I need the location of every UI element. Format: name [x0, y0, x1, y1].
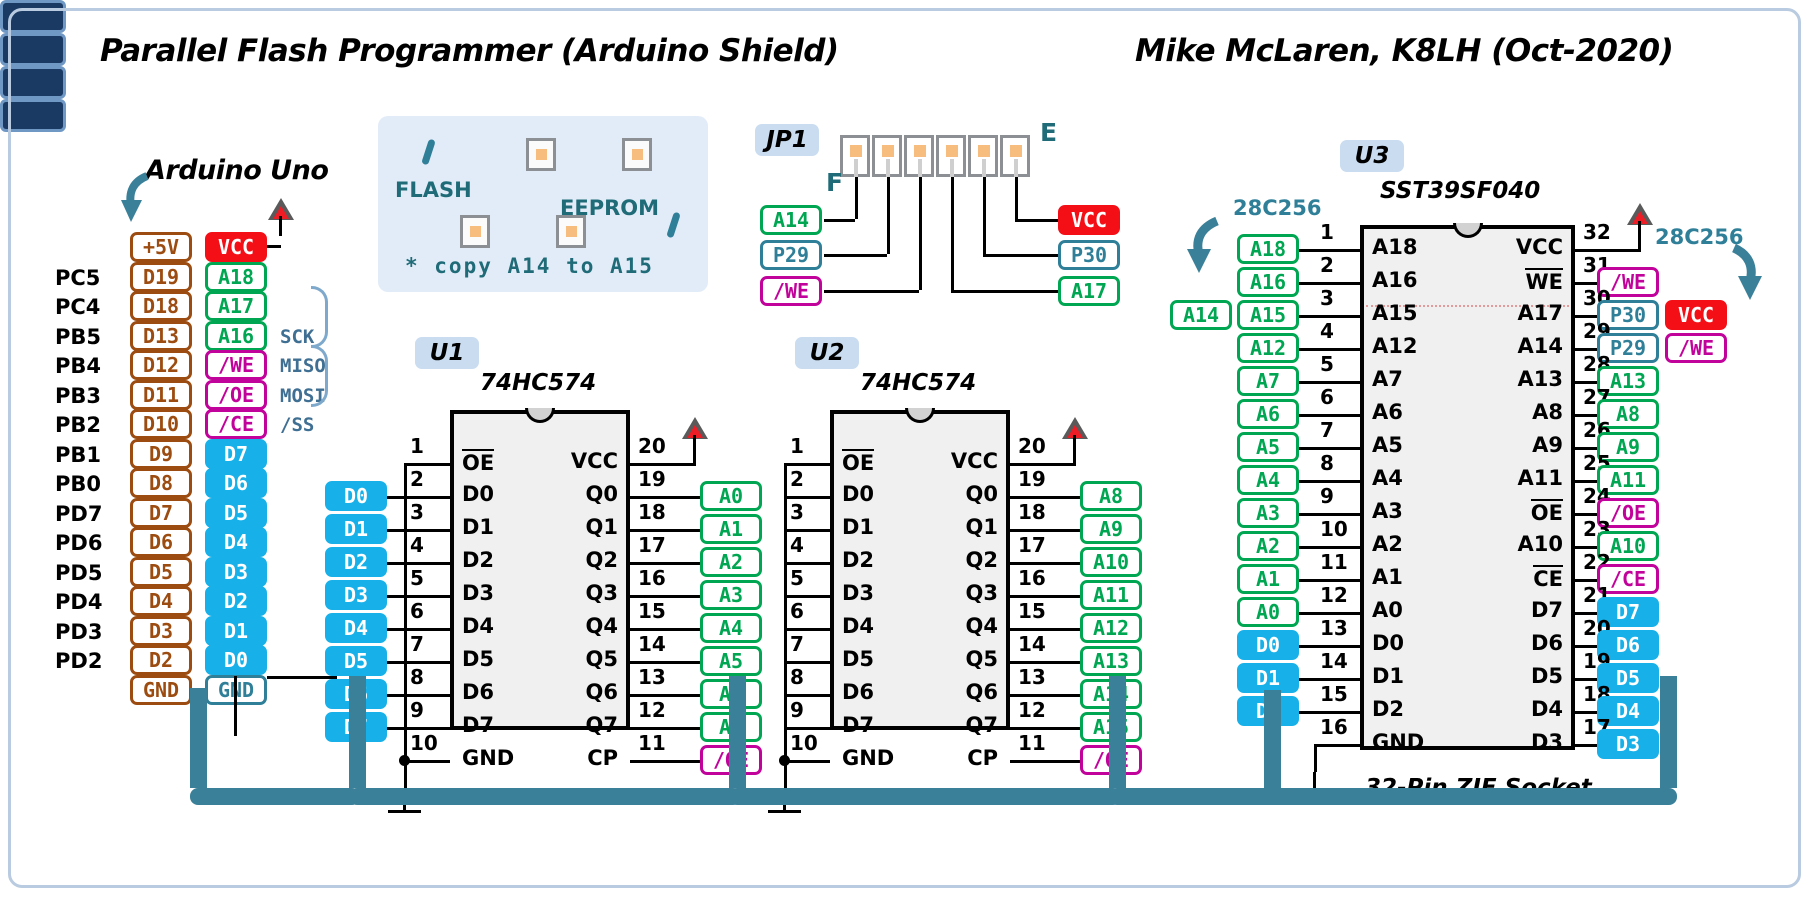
u3-in-A1: A1: [1237, 564, 1299, 594]
u2-pinnum-15: 15: [1018, 599, 1046, 623]
arduino-port-label: PB5: [55, 325, 101, 349]
arduino-signal-A18: A18: [205, 262, 267, 292]
u2-pinname-D2: D2: [842, 548, 874, 572]
wire-segment: [1010, 727, 1056, 730]
wire-segment: [983, 177, 986, 254]
u3-pinname-D3: D3: [1463, 730, 1563, 754]
wire-segment: [784, 760, 787, 790]
u3-pinnum-1: 1: [1320, 220, 1334, 244]
arduino-signal-nOE: /OE: [205, 380, 267, 410]
u3-pinname-A0: A0: [1372, 598, 1403, 622]
u1-pinname-Q1: Q1: [528, 515, 618, 539]
wire-segment: [1314, 315, 1360, 318]
wire-segment: [1575, 249, 1641, 252]
u3-pinname-CE: CE: [1463, 565, 1563, 591]
spi-brace-upper: [311, 286, 328, 348]
wire-segment: [1010, 760, 1056, 763]
u3-in-A18: A18: [1237, 234, 1299, 264]
wire-segment: [1314, 711, 1360, 714]
u1-in-D4: D4: [325, 613, 387, 643]
wire-segment: [1056, 562, 1080, 565]
arduino-pin-D18: D18: [130, 291, 192, 321]
wire-segment: [784, 595, 787, 628]
wire-segment: [693, 435, 696, 463]
u1-pinname-D1: D1: [462, 515, 494, 539]
u3-part-name: SST39SF040: [1380, 178, 1540, 204]
u1-out-A5: A5: [700, 646, 762, 676]
u3-alt-left-A14: A14: [1170, 300, 1232, 330]
wire-segment: [1073, 435, 1076, 463]
u1-pinnum-18: 18: [638, 500, 666, 524]
wire-segment: [676, 628, 700, 631]
wire-segment: [630, 727, 676, 730]
wire-segment: [1299, 315, 1314, 318]
wire-segment: [279, 216, 282, 236]
bus-run: [1264, 788, 1677, 805]
wire-segment: [824, 219, 855, 222]
page-title: Parallel Flash Programmer (Arduino Shiel…: [100, 33, 839, 69]
u3-in-D1: D1: [1237, 663, 1299, 693]
u3-in-D0: D0: [1237, 630, 1299, 660]
bus-run: [729, 788, 1121, 805]
wire-segment: [784, 529, 830, 532]
u2-pinname-Q3: Q3: [908, 581, 998, 605]
u2-pinname-VCC: VCC: [908, 449, 998, 473]
arduino-port-label: PD7: [55, 502, 102, 526]
author-credit: Mike McLaren, K8LH (Oct-2020): [1135, 33, 1673, 69]
jp1-left-P29: P29: [760, 240, 822, 270]
arduino-signal-VCC: VCC: [205, 232, 267, 262]
bus-run: [190, 788, 360, 805]
u3-pinname-WE: WE: [1463, 268, 1563, 294]
wire-segment: [1010, 694, 1056, 697]
arduino-signal-D6: D6: [205, 468, 267, 498]
wire-segment: [404, 496, 450, 499]
u1-ref-label: U1: [415, 337, 479, 369]
wire-segment: [824, 254, 887, 257]
jp1-pin-3[interactable]: [904, 135, 934, 177]
u1-pinname-Q3: Q3: [528, 581, 618, 605]
wire-segment: [630, 694, 676, 697]
u1-pinname-Q7: Q7: [528, 713, 618, 737]
wire-segment: [951, 177, 954, 290]
u1-pinnum-11: 11: [638, 731, 666, 755]
u2-pinnum-13: 13: [1018, 665, 1046, 689]
wire-segment: [1299, 711, 1314, 714]
wire-segment: [1010, 628, 1056, 631]
u1-pinname-D0: D0: [462, 482, 494, 506]
bus-drop: [729, 676, 746, 788]
arduino-signal-D4: D4: [205, 527, 267, 557]
wire-segment: [676, 562, 700, 565]
jp1-pin-6[interactable]: [1000, 135, 1030, 177]
wire-segment: [630, 529, 676, 532]
wire-segment: [1010, 463, 1076, 466]
wire-segment: [1015, 177, 1018, 219]
arduino-signal-D7: D7: [205, 439, 267, 469]
u1-pinnum-17: 17: [638, 533, 666, 557]
wire-segment: [784, 529, 787, 562]
u1-in-D2: D2: [325, 547, 387, 577]
u1-pinname-D3: D3: [462, 581, 494, 605]
arduino-signal-A16: A16: [205, 321, 267, 351]
wire-segment: [1314, 678, 1360, 681]
u1-part-name: 74HC574: [480, 370, 596, 396]
u2-pinnum-12: 12: [1018, 698, 1046, 722]
wire-segment: [784, 727, 830, 730]
u3-pinname-A5: A5: [1372, 433, 1403, 457]
u1-pinname-D7: D7: [462, 713, 494, 737]
u3-in-A4: A4: [1237, 465, 1299, 495]
u1-pinnum-10: 10: [410, 731, 438, 755]
u3-pinname-A12: A12: [1372, 334, 1417, 358]
u2-pinnum-1: 1: [790, 434, 804, 458]
u2-pinnum-3: 3: [790, 500, 804, 524]
wire-segment: [784, 760, 830, 763]
wire-segment: [404, 562, 407, 595]
u1-pinname-Q2: Q2: [528, 548, 618, 572]
bus-drop: [1660, 676, 1677, 788]
arduino-pin-D3: D3: [130, 616, 192, 646]
wire-segment: [1314, 447, 1360, 450]
u2-pinname-Q7: Q7: [908, 713, 998, 737]
jp1-left-nWE: /WE: [760, 276, 822, 306]
u1-pinnum-7: 7: [410, 632, 424, 656]
u2-out-A8: A8: [1080, 481, 1142, 511]
wire-segment: [676, 661, 700, 664]
wire-segment: [951, 290, 1058, 293]
u1-pinname-D6: D6: [462, 680, 494, 704]
wire-segment: [1299, 348, 1314, 351]
arduino-signal-D0: D0: [205, 645, 267, 675]
u1-pinname-GND: GND: [462, 746, 514, 770]
u2-pinnum-9: 9: [790, 698, 804, 722]
wire-segment: [404, 496, 407, 529]
jumper-open-pin[interactable]: [460, 215, 490, 248]
u3-pinnum-15: 15: [1320, 682, 1348, 706]
wire-segment: [1299, 381, 1314, 384]
u1-out-A2: A2: [700, 547, 762, 577]
jp1-mark-e: E: [1040, 118, 1057, 147]
jp1-pin-2[interactable]: [872, 135, 902, 177]
wire-segment: [630, 760, 676, 763]
u2-pinname-Q6: Q6: [908, 680, 998, 704]
wire-segment: [267, 676, 337, 679]
wire-segment: [1299, 282, 1314, 285]
u1-pinname-D5: D5: [462, 647, 494, 671]
wire-segment: [1056, 595, 1080, 598]
u1-pinname-Q4: Q4: [528, 614, 618, 638]
wire-segment: [1056, 628, 1080, 631]
u3-pinname-A6: A6: [1372, 400, 1403, 424]
arduino-pin-GND: GND: [130, 675, 192, 705]
u2-pinnum-6: 6: [790, 599, 804, 623]
wire-segment: [387, 727, 404, 730]
wire-segment: [784, 496, 787, 529]
wire-segment: [784, 694, 787, 727]
wire-segment: [784, 496, 830, 499]
wire-segment: [676, 529, 700, 532]
u1-pinnum-14: 14: [638, 632, 666, 656]
wire-segment: [1314, 282, 1360, 285]
u1-pinnum-12: 12: [638, 698, 666, 722]
jp1-pin-1[interactable]: [840, 135, 870, 177]
arduino-pin-D6: D6: [130, 527, 192, 557]
wire-segment: [1010, 661, 1056, 664]
wire-segment: [1010, 562, 1056, 565]
u2-pinname-GND: GND: [842, 746, 894, 770]
u2-pinname-Q0: Q0: [908, 482, 998, 506]
u1-out-A1: A1: [700, 514, 762, 544]
spi-label-SCK: SCK: [280, 326, 314, 348]
u1-pinnum-13: 13: [638, 665, 666, 689]
wire-segment: [1299, 249, 1314, 252]
wire-segment: [855, 177, 858, 219]
u1-pinname-Q6: Q6: [528, 680, 618, 704]
wire-segment: [1056, 727, 1080, 730]
u3-pinnum-8: 8: [1320, 451, 1334, 475]
wire-segment: [1638, 221, 1641, 249]
wire-segment: [1314, 480, 1360, 483]
u2-pinnum-18: 18: [1018, 500, 1046, 524]
u1-pinnum-1: 1: [410, 434, 424, 458]
wire-segment: [1056, 694, 1080, 697]
arduino-port-label: PD5: [55, 561, 102, 585]
u3-pinname-A9: A9: [1463, 433, 1563, 457]
arduino-pin-D5: D5: [130, 557, 192, 587]
u3-pinname-D2: D2: [1372, 697, 1404, 721]
u2-pinnum-2: 2: [790, 467, 804, 491]
u2-pinname-OE: OE: [842, 449, 874, 475]
u2-pinnum-10: 10: [790, 731, 818, 755]
u1-out-A0: A0: [700, 481, 762, 511]
u3-in-A16: A16: [1237, 267, 1299, 297]
u2-pinname-Q2: Q2: [908, 548, 998, 572]
wire-segment: [234, 676, 237, 736]
u1-pinnum-20: 20: [638, 434, 666, 458]
wire-segment: [676, 727, 700, 730]
jp1-right-VCC: VCC: [1058, 205, 1120, 235]
arduino-pin-D7: D7: [130, 498, 192, 528]
wire-segment: [1299, 546, 1314, 549]
schematic-canvas: Parallel Flash Programmer (Arduino Shiel…: [0, 0, 1817, 904]
u3-pinnum-5: 5: [1320, 352, 1334, 376]
arduino-pin-D4: D4: [130, 586, 192, 616]
u1-pinnum-3: 3: [410, 500, 424, 524]
u1-pinname-D2: D2: [462, 548, 494, 572]
wire-segment: [1299, 645, 1314, 648]
arduino-signal-A17: A17: [205, 291, 267, 321]
wire-segment: [404, 463, 450, 466]
wire-segment: [784, 628, 830, 631]
u3-in-A2: A2: [1237, 531, 1299, 561]
u3-pinname-A16: A16: [1372, 268, 1417, 292]
wire-segment: [1299, 579, 1314, 582]
arduino-port-label: PC5: [55, 266, 100, 290]
u3-pinname-D6: D6: [1463, 631, 1563, 655]
alt-right-arrow-icon: [1718, 242, 1768, 304]
jumper-open-pin[interactable]: [526, 138, 556, 171]
arduino-pin-D13: D13: [130, 321, 192, 351]
arduino-pin-D9: D9: [130, 439, 192, 469]
u2-pinnum-4: 4: [790, 533, 804, 557]
u1-pinname-Q5: Q5: [528, 647, 618, 671]
u1-pinnum-6: 6: [410, 599, 424, 623]
wire-segment: [784, 562, 830, 565]
bus-drop: [1109, 676, 1126, 788]
wire-segment: [404, 694, 450, 697]
u2-pinname-Q5: Q5: [908, 647, 998, 671]
wire-segment: [784, 694, 830, 697]
bus-drop: [1264, 690, 1281, 788]
arduino-port-label: PD6: [55, 531, 102, 555]
u2-out-A12: A12: [1080, 613, 1142, 643]
u3-pinname-A14: A14: [1463, 334, 1563, 358]
wire-segment: [404, 727, 450, 730]
wire-segment: [1010, 529, 1056, 532]
u2-pinname-D0: D0: [842, 482, 874, 506]
u3-pinname-D7: D7: [1463, 598, 1563, 622]
wire-segment: [784, 661, 787, 694]
u3-pinname-D0: D0: [1372, 631, 1404, 655]
wire-segment: [404, 760, 407, 790]
arduino-port-label: PB3: [55, 384, 101, 408]
arduino-signal-nWE: /WE: [205, 350, 267, 380]
u3-pinname-OE: OE: [1463, 499, 1563, 525]
wire-segment: [404, 661, 407, 694]
arduino-signal-D2: D2: [205, 586, 267, 616]
wire-segment: [784, 562, 787, 595]
wire-segment: [630, 628, 676, 631]
u3-left-alt-header: 28C256: [1233, 196, 1321, 220]
u1-pinnum-5: 5: [410, 566, 424, 590]
wire-segment: [784, 463, 830, 466]
jp1-left-A14: A14: [760, 205, 822, 235]
u3-pinname-A18: A18: [1372, 235, 1417, 259]
u2-pinnum-14: 14: [1018, 632, 1046, 656]
wire-segment: [1314, 546, 1360, 549]
wire-segment: [1010, 595, 1056, 598]
wire-segment: [784, 595, 830, 598]
arduino-signal-D3: D3: [205, 557, 267, 587]
wire-segment: [1299, 678, 1314, 681]
u1-pinname-OE: OE: [462, 449, 494, 475]
wire-segment: [887, 177, 890, 254]
u1-pinnum-2: 2: [410, 467, 424, 491]
u2-pinname-D5: D5: [842, 647, 874, 671]
u2-pinname-D7: D7: [842, 713, 874, 737]
u3-pinnum-2: 2: [1320, 253, 1334, 277]
wire-segment: [630, 595, 676, 598]
u2-pinname-D3: D3: [842, 581, 874, 605]
wire-segment: [1056, 529, 1080, 532]
wire-segment: [387, 496, 404, 499]
wire-segment: [630, 661, 676, 664]
wire-segment: [630, 562, 676, 565]
arduino-port-label: PB1: [55, 443, 101, 467]
u1-out-A4: A4: [700, 613, 762, 643]
u2-out-A13: A13: [1080, 646, 1142, 676]
u3-pinnum-16: 16: [1320, 715, 1348, 739]
wire-segment: [630, 463, 696, 466]
arduino-pin-D19: D19: [130, 262, 192, 292]
alt-left-arrow-icon: [1183, 215, 1233, 277]
u2-pinnum-17: 17: [1018, 533, 1046, 557]
wire-segment: [387, 595, 404, 598]
arduino-port-label: PB4: [55, 354, 101, 378]
u3-pinname-A4: A4: [1372, 466, 1403, 490]
wire-segment: [676, 496, 700, 499]
u3-pinname-A17: A17: [1463, 301, 1563, 325]
u3-in-A6: A6: [1237, 399, 1299, 429]
wire-segment: [387, 562, 404, 565]
wire-segment: [784, 661, 830, 664]
wire-segment: [676, 694, 700, 697]
u3-pinnum-4: 4: [1320, 319, 1334, 343]
u3-pinname-A1: A1: [1372, 565, 1403, 589]
u3-out-D3: D3: [1597, 729, 1659, 759]
u2-part-name: 74HC574: [860, 370, 976, 396]
u3-in-A15: A15: [1237, 300, 1299, 330]
u3-pinnum-9: 9: [1320, 484, 1334, 508]
wire-segment: [1299, 414, 1314, 417]
wire-segment: [1314, 348, 1360, 351]
u2-pinname-Q4: Q4: [908, 614, 998, 638]
u1-pinnum-16: 16: [638, 566, 666, 590]
u3-alt-right-nWE: /WE: [1665, 333, 1727, 363]
arduino-port-label: PC4: [55, 295, 100, 319]
wire-segment: [387, 661, 404, 664]
jumper-open-pin[interactable]: [622, 138, 652, 171]
wire-segment: [1314, 645, 1360, 648]
u2-pinnum-16: 16: [1018, 566, 1046, 590]
u3-pinname-A13: A13: [1463, 367, 1563, 391]
bus-run: [1109, 788, 1281, 805]
jp1-pin-4[interactable]: [936, 135, 966, 177]
u3-pinname-A7: A7: [1372, 367, 1403, 391]
u2-pinname-D4: D4: [842, 614, 874, 638]
u3-ref-label: U3: [1340, 140, 1404, 172]
wire-segment: [1010, 496, 1056, 499]
spi-brace-lower: [311, 345, 328, 407]
u1-out-A3: A3: [700, 580, 762, 610]
u2-out-A11: A11: [1080, 580, 1142, 610]
u3-pinnum-14: 14: [1320, 649, 1348, 673]
spi-label-nSS: /SS: [280, 414, 314, 436]
wire-segment: [1299, 447, 1314, 450]
jp1-pin-5[interactable]: [968, 135, 998, 177]
arduino-port-label: PD2: [55, 649, 102, 673]
u1-in-D5: D5: [325, 646, 387, 676]
arduino-pin-D10: D10: [130, 409, 192, 439]
u3-pinnum-32: 32: [1583, 220, 1611, 244]
jp1-ref-label: JP1: [755, 124, 819, 156]
u3-pinname-A11: A11: [1463, 466, 1563, 490]
u2-pinname-D6: D6: [842, 680, 874, 704]
wire-segment: [630, 496, 676, 499]
wire-segment: [676, 595, 700, 598]
wire-segment: [1314, 744, 1360, 747]
u3-pinnum-6: 6: [1320, 385, 1334, 409]
arduino-pin-D12: D12: [130, 350, 192, 380]
u2-pinname-Q1: Q1: [908, 515, 998, 539]
arduino-signal-D1: D1: [205, 616, 267, 646]
arduino-port-label: PD3: [55, 620, 102, 644]
legend-note: * copy A14 to A15: [405, 254, 654, 278]
u3-in-A0: A0: [1237, 597, 1299, 627]
flash-label: FLASH: [395, 178, 472, 202]
eeprom-label: EEPROM: [560, 196, 659, 220]
